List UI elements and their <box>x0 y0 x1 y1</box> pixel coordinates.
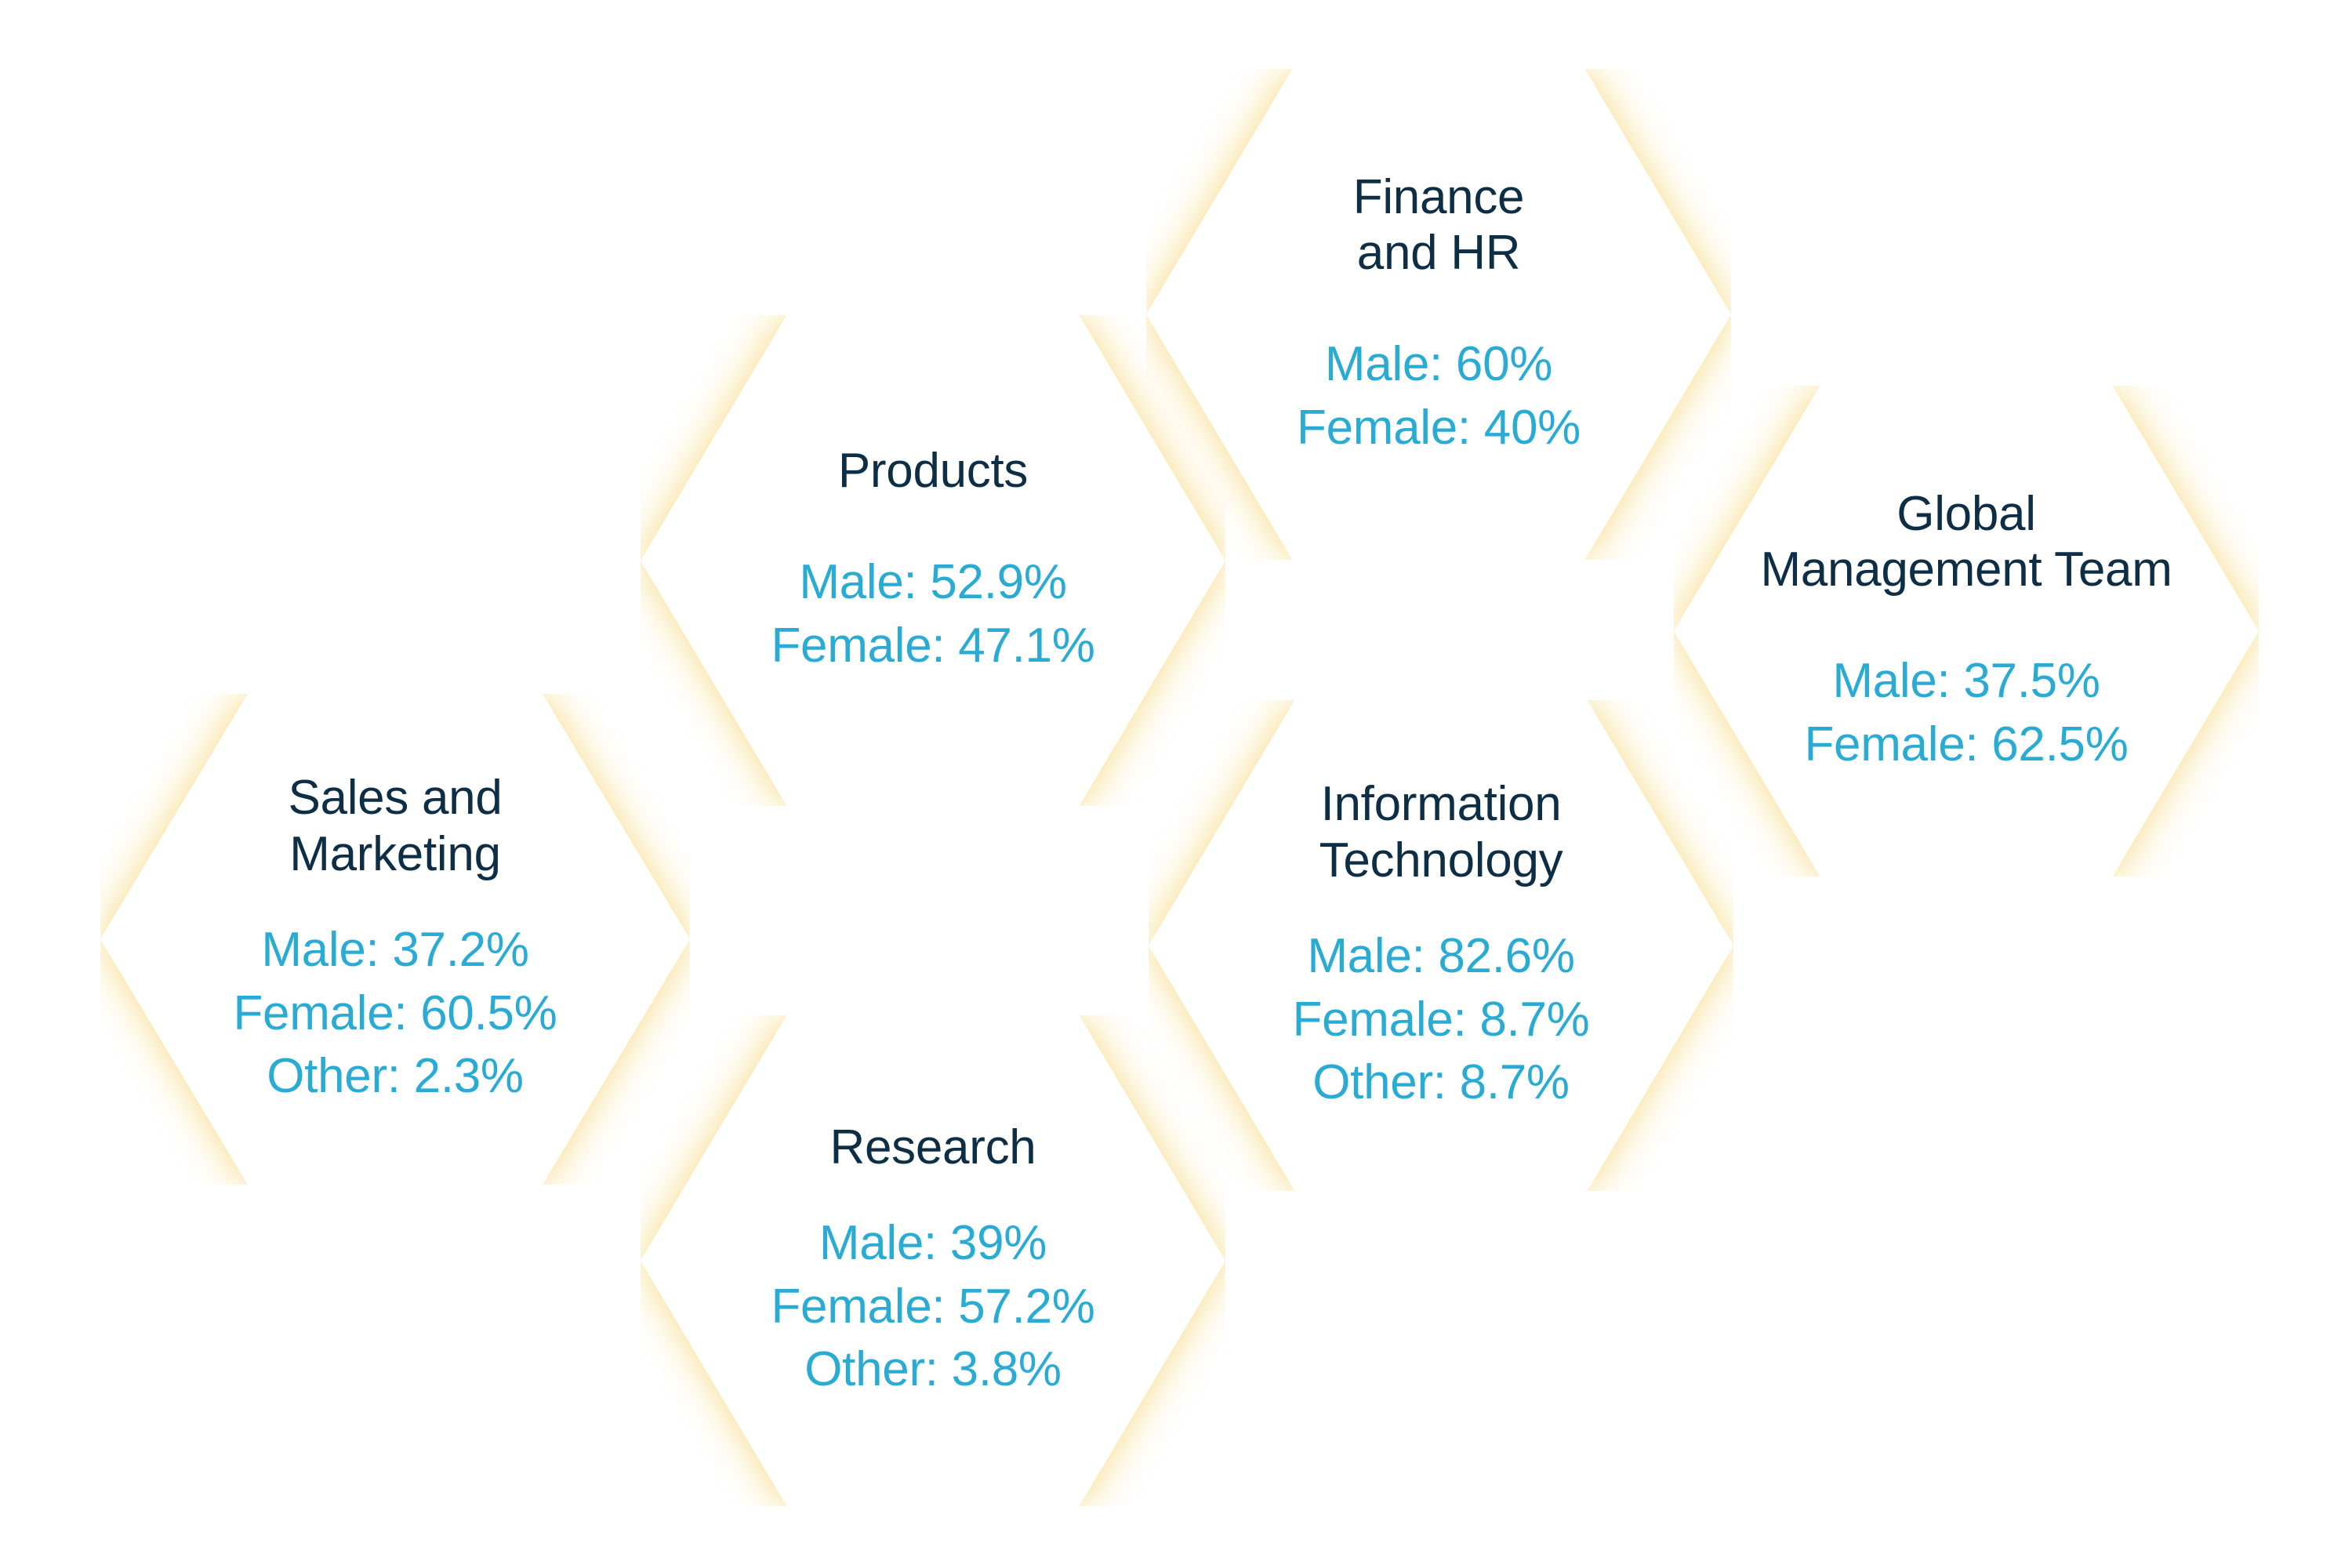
stat-female: Female: 47.1% <box>771 615 1094 678</box>
stat-female: Female: 57.2% <box>771 1276 1094 1339</box>
stat-other: Other: 2.3% <box>267 1045 524 1109</box>
stat-female: Female: 40% <box>1297 397 1581 460</box>
hex-research[interactable]: Research Male: 39% Female: 57.2% Other: … <box>641 1015 1225 1506</box>
stat-female: Female: 60.5% <box>233 982 557 1046</box>
hex-content: Research Male: 39% Female: 57.2% Other: … <box>641 1015 1225 1506</box>
hex-title: Information Technology <box>1319 776 1563 889</box>
stat-female: Female: 8.7% <box>1293 989 1590 1052</box>
hex-content: Global Management Team Male: 37.5% Femal… <box>1674 386 2259 877</box>
hex-content: Products Male: 52.9% Female: 47.1% <box>641 315 1225 806</box>
hex-finance-and-hr[interactable]: Finance and HR Male: 60% Female: 40% <box>1146 69 1731 560</box>
hex-stats: Male: 39% Female: 57.2% Other: 3.8% <box>771 1212 1094 1402</box>
hex-stats: Male: 52.9% Female: 47.1% <box>771 551 1094 677</box>
stat-other: Other: 8.7% <box>1312 1051 1570 1115</box>
stat-male: Male: 39% <box>819 1212 1047 1276</box>
hex-title: Finance and HR <box>1353 169 1524 282</box>
hex-sales-and-marketing[interactable]: Sales and Marketing Male: 37.2% Female: … <box>100 694 690 1185</box>
stat-male: Male: 60% <box>1325 333 1552 397</box>
hex-title: Research <box>830 1120 1036 1176</box>
stat-male: Male: 37.2% <box>261 919 528 982</box>
hex-stats: Male: 82.6% Female: 8.7% Other: 8.7% <box>1293 925 1590 1115</box>
stat-female: Female: 62.5% <box>1804 713 2128 777</box>
hex-title: Global Management Team <box>1760 486 2172 599</box>
hex-stats: Male: 37.2% Female: 60.5% Other: 2.3% <box>233 919 557 1109</box>
stat-male: Male: 37.5% <box>1832 650 2100 713</box>
hex-content: Finance and HR Male: 60% Female: 40% <box>1146 69 1731 560</box>
hex-stats: Male: 60% Female: 40% <box>1297 333 1581 459</box>
hex-stats: Male: 37.5% Female: 62.5% <box>1804 650 2128 776</box>
stat-male: Male: 82.6% <box>1307 925 1574 989</box>
infographic-canvas: Finance and HR Male: 60% Female: 40% Pro… <box>0 0 2352 1568</box>
stat-other: Other: 3.8% <box>804 1338 1062 1402</box>
stat-male: Male: 52.9% <box>799 551 1066 615</box>
hex-content: Information Technology Male: 82.6% Femal… <box>1149 700 1733 1191</box>
hex-content: Sales and Marketing Male: 37.2% Female: … <box>100 694 690 1185</box>
hex-products[interactable]: Products Male: 52.9% Female: 47.1% <box>641 315 1225 806</box>
hex-title: Sales and Marketing <box>288 770 502 883</box>
hex-title: Products <box>838 443 1028 499</box>
hex-information-technology[interactable]: Information Technology Male: 82.6% Femal… <box>1149 700 1733 1191</box>
hex-global-management-team[interactable]: Global Management Team Male: 37.5% Femal… <box>1674 386 2259 877</box>
